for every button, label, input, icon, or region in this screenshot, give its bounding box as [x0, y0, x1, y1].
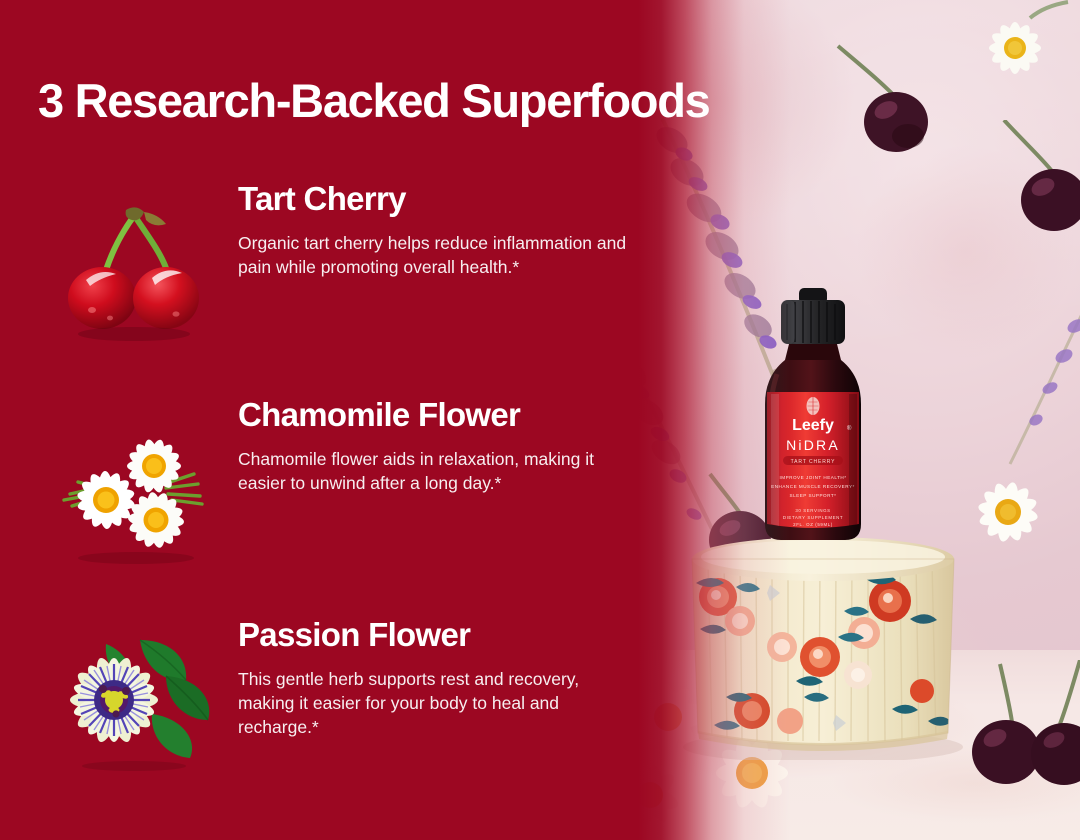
net-volume: 2FL. OZ (59ML) [793, 522, 833, 527]
page-title: 3 Research-Backed Superfoods [38, 77, 918, 126]
purple-salvia-sprig-right-icon [990, 300, 1080, 470]
list-item-chamomile-flower: Chamomile Flower Chamomile flower aids i… [0, 370, 660, 580]
supplement-category: DIETARY SUPPLEMENT [783, 515, 843, 520]
product-name: NiDRA [786, 437, 840, 453]
superfood-list: Tart Cherry Organic tart cherry helps re… [0, 160, 660, 790]
list-item-passion-flower: Passion Flower This gentle herb supports… [0, 580, 660, 790]
item-description: Chamomile flower aids in relaxation, mak… [238, 447, 630, 495]
brand-name: Leefy [792, 417, 834, 434]
item-description: Organic tart cherry helps reduce inflamm… [238, 231, 630, 279]
product-flavor: TART CHERRY [791, 459, 836, 465]
benefit-3: SLEEP SUPPORT* [790, 493, 837, 498]
item-title: Chamomile Flower [238, 398, 630, 433]
infographic-canvas: Leefy ® NiDRA TART CHERRY IMPROVE JOINT … [0, 0, 1080, 840]
item-description: This gentle herb supports rest and recov… [238, 667, 630, 739]
dark-cherry-right-icon [990, 120, 1080, 240]
white-daisy-secondary-icon [950, 460, 1070, 560]
item-title: Passion Flower [238, 618, 630, 653]
list-item-tart-cherry: Tart Cherry Organic tart cherry helps re… [0, 160, 660, 370]
white-daisy-icon [960, 0, 1070, 90]
item-text-passion-flower: Passion Flower This gentle herb supports… [238, 618, 630, 739]
item-title: Tart Cherry [238, 182, 630, 217]
item-text-chamomile-flower: Chamomile Flower Chamomile flower aids i… [238, 398, 630, 495]
servings-count: 30 SERVINGS [795, 508, 830, 513]
cherries-icon [48, 194, 220, 344]
item-text-tart-cherry: Tart Cherry Organic tart cherry helps re… [238, 182, 630, 279]
chamomile-flowers-icon [48, 416, 220, 566]
passion-flower-icon [48, 622, 220, 772]
